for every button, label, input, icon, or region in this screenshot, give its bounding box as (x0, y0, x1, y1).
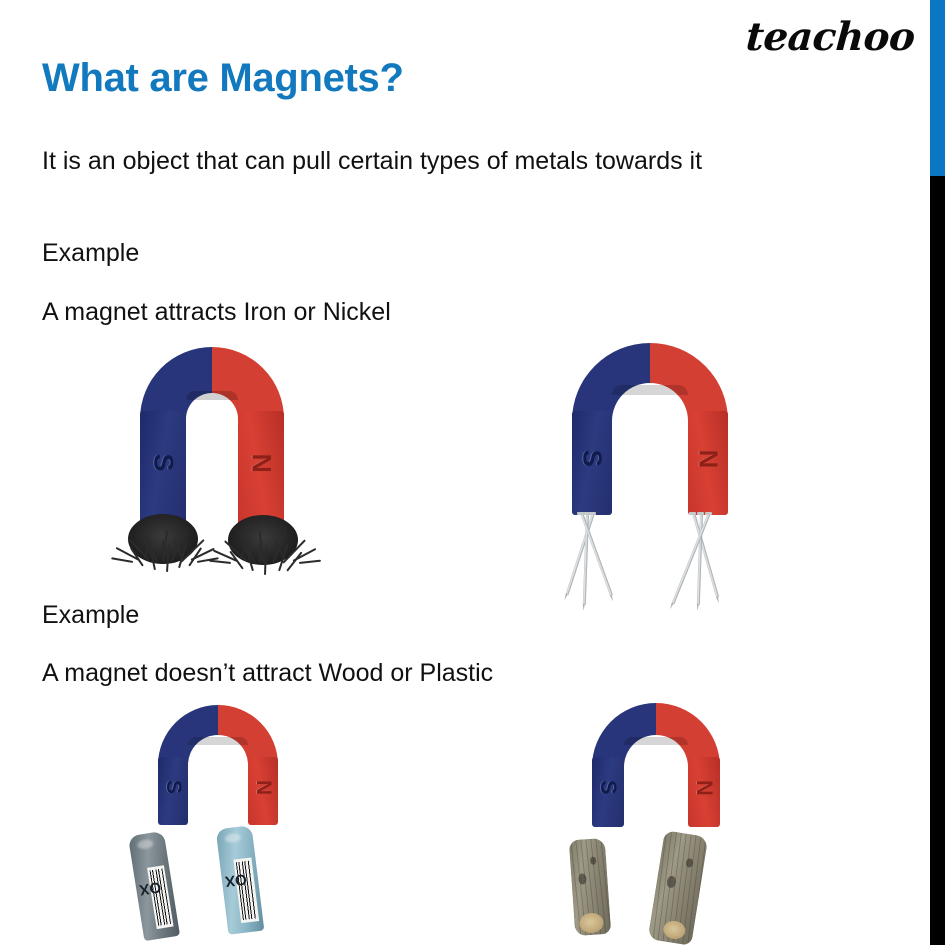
right-edge-blue-bar (930, 0, 945, 176)
cap-brand-text: OX (138, 878, 162, 898)
magnet-pole-label-north: N (691, 780, 717, 804)
cap-highlight (224, 833, 241, 844)
teachoo-logo: teachoo (745, 14, 917, 60)
magnet-pole-label-north: N (246, 454, 277, 480)
horseshoe-magnet: S N (566, 343, 738, 523)
example-1-label: Example (42, 239, 139, 268)
definition-text: It is an object that can pull certain ty… (42, 147, 702, 176)
cap-brand-text: OX (224, 870, 248, 890)
magnet-pole-label-south: S (161, 780, 185, 802)
nails-north (684, 513, 756, 618)
cap-barcode-label (233, 857, 259, 923)
page-title: What are Magnets? (42, 56, 404, 101)
slide-canvas: teachoo What are Magnets? It is an objec… (0, 0, 945, 945)
cap-barcode-label (147, 865, 173, 929)
cap-highlight (137, 839, 154, 850)
example-2-label: Example (42, 601, 139, 630)
magnet-inner-shadow (188, 737, 248, 745)
wood-cut-end (579, 912, 604, 934)
magnet-pole-label-south: S (595, 780, 621, 804)
right-edge-black-bar (930, 176, 945, 945)
nails-south (572, 513, 642, 618)
cap-barcode (236, 861, 257, 920)
wood-cut-end (662, 919, 687, 940)
figure-magnet-nails: S N (548, 337, 754, 620)
horseshoe-magnet: S N (154, 705, 286, 827)
magnet-pole-label-south: S (577, 450, 608, 476)
wood-knot (685, 858, 693, 868)
example-2-text: A magnet doesn’t attract Wood or Plastic (42, 659, 493, 688)
nail-head (577, 512, 584, 515)
wood-knot (578, 873, 587, 885)
example-1-text: A magnet attracts Iron or Nickel (42, 298, 391, 327)
figure-magnet-wood: S N (558, 697, 763, 945)
wooden-stick-right (648, 830, 709, 945)
magnet-pole-label-south: S (148, 454, 179, 480)
iron-filings-north (212, 503, 314, 585)
magnet-inner-shadow (624, 737, 688, 745)
nail-head (689, 512, 696, 515)
cap-barcode (150, 868, 172, 925)
wooden-stick-left (569, 838, 612, 936)
plastic-marker-cap-blue: OX (216, 825, 265, 935)
iron-filings-south (112, 500, 214, 584)
horseshoe-magnet: S N (588, 703, 728, 829)
nail-head (583, 512, 590, 515)
figure-magnet-iron-filings: S N (108, 345, 316, 585)
wood-knot (590, 857, 597, 865)
nail-head (705, 512, 712, 515)
nail (565, 513, 594, 596)
magnet-pole-label-north: N (251, 780, 275, 802)
plastic-marker-cap-grey: OX (128, 831, 180, 941)
magnet-inner-shadow (186, 391, 238, 400)
nail-head (589, 512, 596, 515)
wood-knot (666, 875, 677, 888)
magnet-pole-label-north: N (693, 450, 724, 476)
figure-magnet-plastic: S N OX OX (118, 697, 323, 945)
magnet-inner-shadow (612, 385, 688, 395)
nail-head (697, 512, 704, 515)
